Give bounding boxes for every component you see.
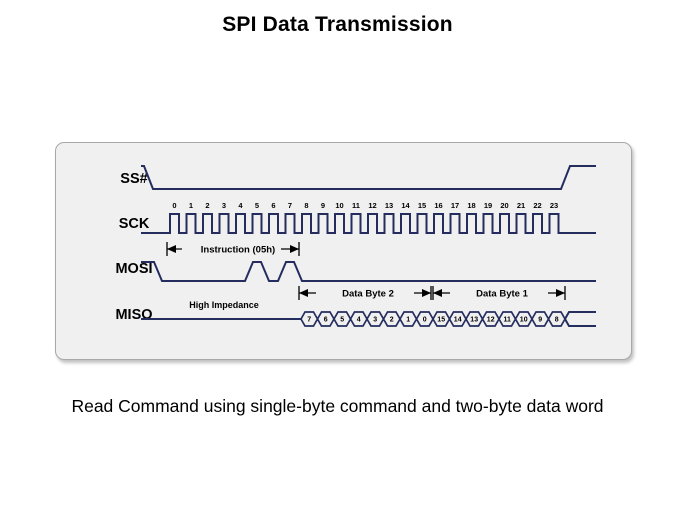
- clock-number: 11: [352, 201, 360, 210]
- signal-label-ss: SS#: [120, 171, 147, 187]
- clock-number: 4: [238, 201, 243, 210]
- miso-bit-label: 12: [487, 317, 495, 324]
- signal-label-sck: SCK: [119, 216, 150, 232]
- miso-bit-label: 2: [390, 317, 394, 324]
- data-byte-1-label: Data Byte 1: [476, 289, 528, 300]
- clock-number: 12: [368, 201, 376, 210]
- slide-caption: Read Command using single-byte command a…: [0, 396, 675, 417]
- waveform-ss: [141, 166, 596, 189]
- clock-number: 1: [189, 201, 193, 210]
- clock-number: 14: [401, 201, 410, 210]
- instruction-label: Instruction (05h): [201, 245, 275, 256]
- miso-bit-label: 11: [503, 317, 511, 324]
- spi-waveform-canvas: SS# SCK MOSI MISO 0 1 2 3 4 5 6 7 8 9 10…: [56, 143, 633, 361]
- miso-bit-label: 6: [324, 317, 328, 324]
- signal-label-miso: MISO: [115, 307, 152, 323]
- clock-number: 21: [517, 201, 525, 210]
- clock-number: 15: [418, 201, 426, 210]
- waveform-sck: [141, 214, 596, 233]
- high-impedance-label: High Impedance: [189, 300, 259, 310]
- waveform-mosi: [141, 262, 596, 281]
- clock-cycle-numbers: 0 1 2 3 4 5 6 7 8 9 10 11 12 13 14 15 16…: [172, 201, 558, 210]
- clock-number: 8: [304, 201, 308, 210]
- signal-label-mosi: MOSI: [115, 261, 152, 277]
- instruction-span-annotation: Instruction (05h): [167, 242, 299, 256]
- miso-bit-label: 14: [454, 317, 462, 324]
- clock-number: 13: [385, 201, 393, 210]
- miso-bit-label: 10: [520, 317, 528, 324]
- miso-bit-label: 15: [437, 317, 445, 324]
- clock-number: 17: [451, 201, 459, 210]
- data-byte-1-span-annotation: Data Byte 1: [433, 286, 565, 300]
- miso-bit-label: 0: [423, 317, 427, 324]
- page-title: SPI Data Transmission: [0, 13, 675, 37]
- miso-bit-label: 9: [538, 317, 542, 324]
- clock-number: 16: [434, 201, 442, 210]
- waveform-miso-tail-lower: [565, 319, 596, 326]
- clock-number: 9: [321, 201, 325, 210]
- clock-number: 10: [335, 201, 343, 210]
- spi-timing-diagram-panel: SS# SCK MOSI MISO 0 1 2 3 4 5 6 7 8 9 10…: [55, 142, 632, 360]
- clock-number: 18: [467, 201, 475, 210]
- miso-bit-label: 7: [307, 317, 311, 324]
- data-byte-2-span-annotation: Data Byte 2: [299, 286, 431, 300]
- miso-bit-label: 4: [357, 317, 361, 324]
- clock-number: 2: [205, 201, 209, 210]
- clock-number: 7: [288, 201, 292, 210]
- clock-number: 23: [550, 201, 558, 210]
- miso-bit-label: 13: [470, 317, 478, 324]
- miso-data-cells: 7 6 5 4 3 2 1 0 15 14 13 12 11: [301, 312, 565, 326]
- clock-number: 6: [271, 201, 275, 210]
- clock-number: 19: [484, 201, 492, 210]
- miso-bit-label: 1: [406, 317, 410, 324]
- miso-bit-label: 3: [373, 317, 377, 324]
- waveform-miso-tail: [565, 312, 596, 319]
- miso-bit-label: 8: [555, 317, 559, 324]
- miso-bit-label: 5: [340, 317, 344, 324]
- clock-number: 22: [533, 201, 541, 210]
- clock-number: 0: [172, 201, 176, 210]
- clock-number: 3: [222, 201, 226, 210]
- clock-number: 20: [500, 201, 508, 210]
- data-byte-2-label: Data Byte 2: [342, 289, 394, 300]
- clock-number: 5: [255, 201, 259, 210]
